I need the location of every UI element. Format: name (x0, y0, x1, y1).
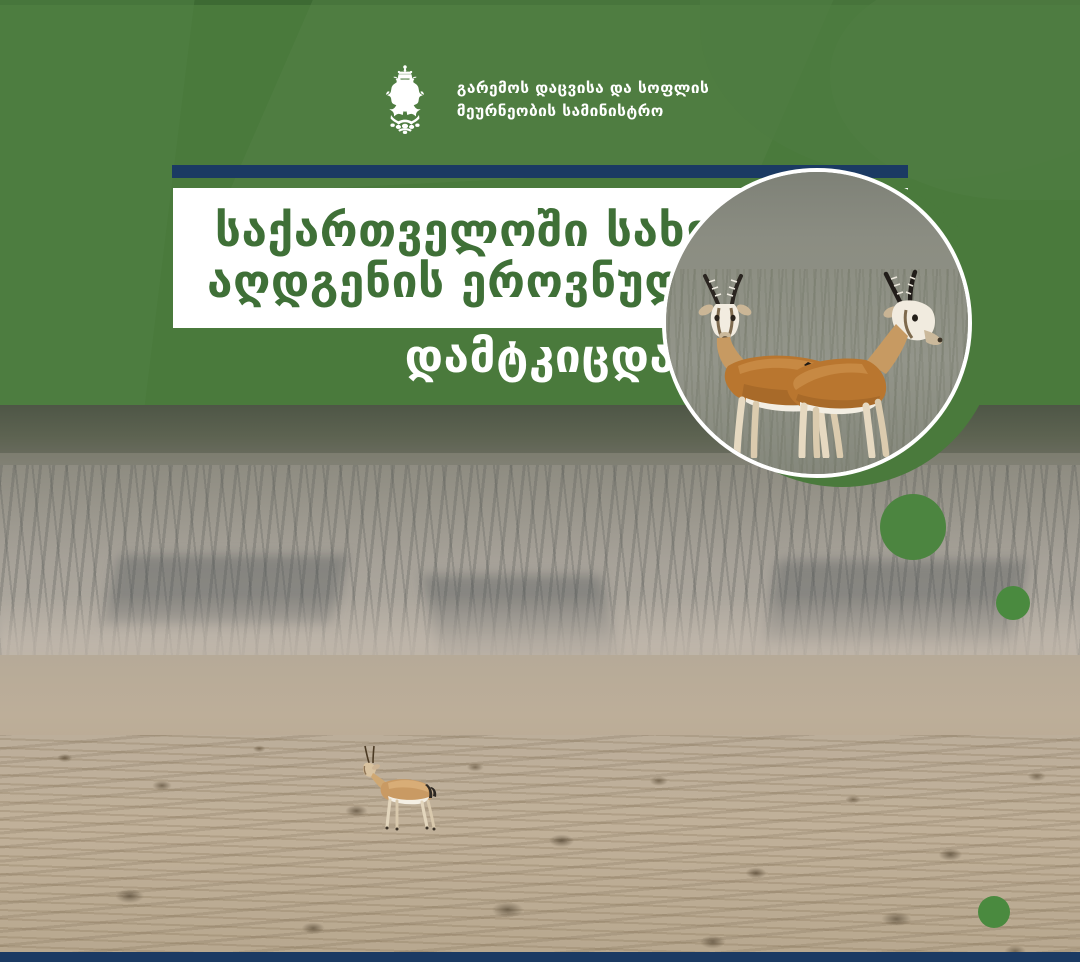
decor-dot-large (880, 494, 946, 560)
ministry-name-line-1: გარემოს დაცვისა და სოფლის (457, 79, 709, 99)
poster-canvas: გარემოს დაცვისა და სოფლის მეურნეობის სამ… (0, 0, 1080, 962)
georgian-coat-of-arms-icon (371, 62, 439, 138)
ministry-name-line-2: მეურნეობის სამინისტრო (457, 102, 709, 122)
gazelle-figure (352, 743, 448, 835)
decor-dot-medium (996, 586, 1030, 620)
gazelle-pair-inset (662, 168, 972, 478)
landscape-photo (0, 405, 1080, 952)
ministry-name: გარემოს დაცვისა და სოფლის მეურნეობის სამ… (457, 79, 709, 122)
bottom-accent-bar (0, 952, 1080, 962)
gazelle-pair-figure (694, 258, 949, 458)
decor-dot-small (978, 896, 1010, 928)
ministry-lockup: გარემოს დაცვისა და სოფლის მეურნეობის სამ… (0, 62, 1080, 138)
photo-shrub-texture (0, 735, 1080, 952)
